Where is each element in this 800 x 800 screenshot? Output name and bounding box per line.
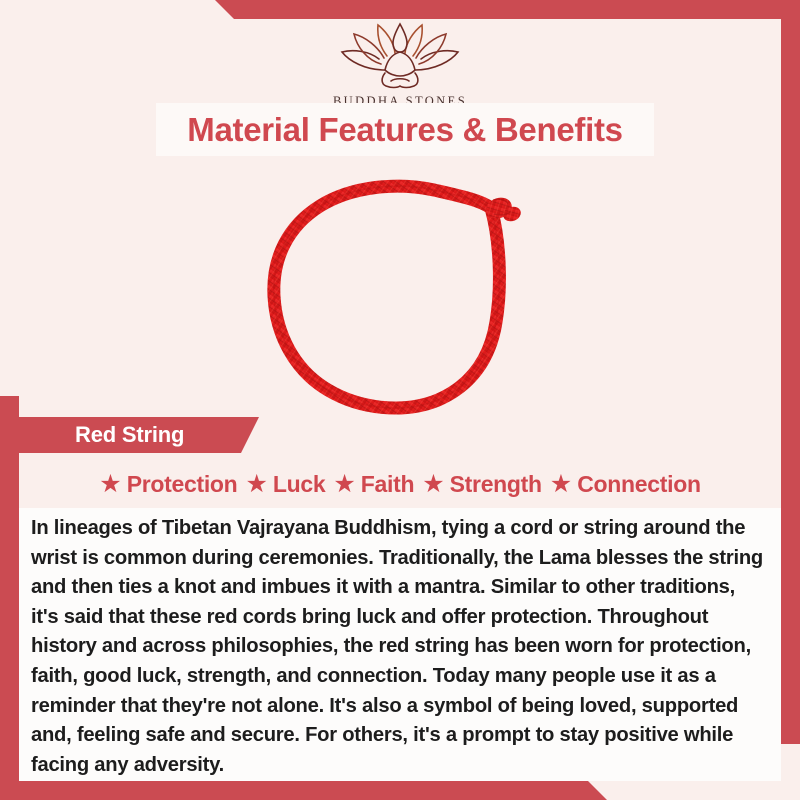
features-row: ★ Protection ★ Luck ★ Faith ★ Strength ★… [19,464,781,504]
lotus-meditation-icon [329,16,471,90]
feature-label: Luck [273,471,325,498]
star-icon: ★ [99,472,121,497]
brand-logo: BUDDHA STONES [0,16,800,109]
left-red-band [0,396,19,781]
product-name-banner: Red String [19,417,259,453]
feature-label: Connection [577,471,701,498]
description-text: In lineages of Tibetan Vajrayana Buddhis… [19,508,781,780]
description-panel: In lineages of Tibetan Vajrayana Buddhis… [19,508,781,781]
right-red-band [781,19,800,744]
star-icon: ★ [422,472,444,497]
feature-item-luck: ★ Luck [245,471,325,498]
red-string-bracelet-image [248,168,552,416]
product-name-text: Red String [19,422,184,448]
page-title: Material Features & Benefits [156,103,654,156]
star-icon: ★ [333,472,355,497]
feature-item-strength: ★ Strength [422,471,542,498]
star-icon: ★ [550,472,572,497]
star-icon: ★ [245,472,267,497]
feature-label: Protection [127,471,238,498]
feature-item-faith: ★ Faith [333,471,414,498]
feature-label: Strength [450,471,542,498]
feature-label: Faith [361,471,414,498]
feature-item-protection: ★ Protection [99,471,237,498]
page-title-text: Material Features & Benefits [187,111,622,149]
infographic-card: BUDDHA STONES Material Features & Benefi… [0,0,800,800]
bottom-red-band [0,781,800,800]
feature-item-connection: ★ Connection [550,471,701,498]
